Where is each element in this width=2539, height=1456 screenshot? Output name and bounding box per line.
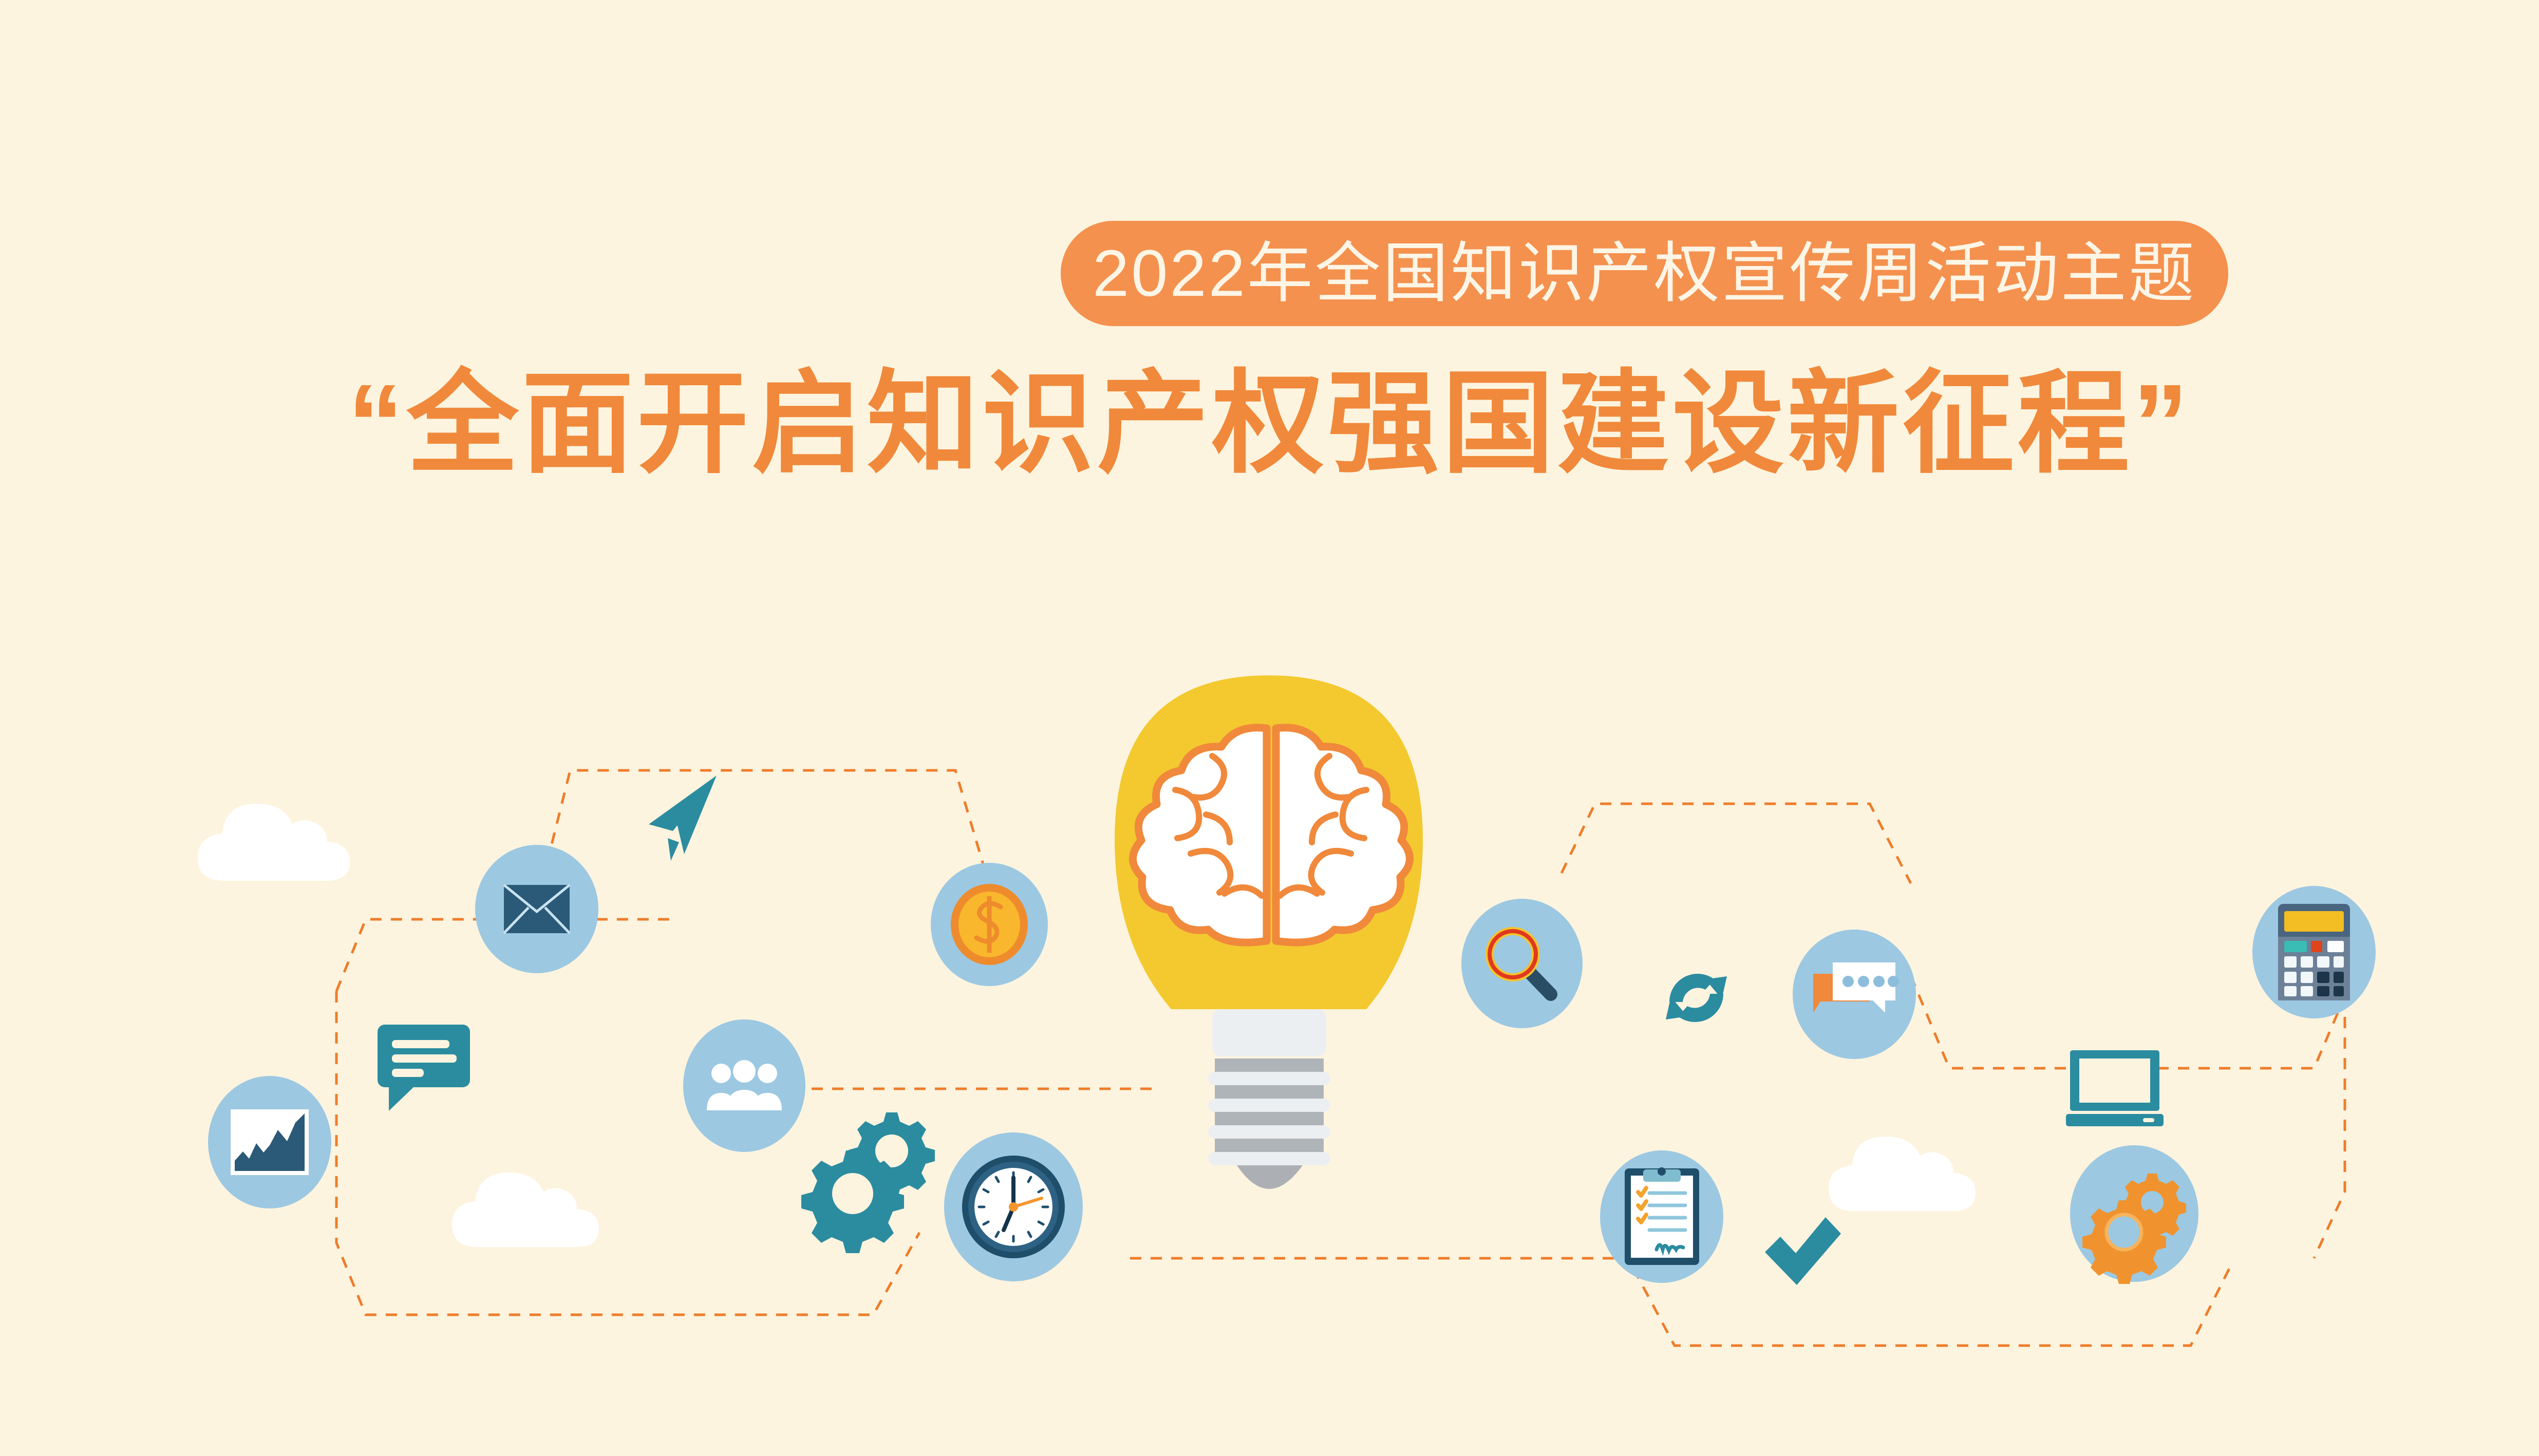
lightbulb-brain-icon [1109,670,1428,1276]
gears-icon [2070,1145,2198,1282]
chat-messages-icon [1793,930,1916,1059]
area-chart-icon [208,1076,331,1208]
calculator-icon [2252,886,2376,1018]
page-title: “全面开启知识产权强国建设新征程” [0,354,2539,495]
clock-icon [944,1132,1083,1281]
paper-plane-icon [648,774,738,859]
envelope-icon [475,845,598,973]
magnifier-icon [1461,899,1583,1028]
check-icon [1763,1212,1842,1287]
chat-bubble-icon [378,1025,470,1113]
campaign-banner: 2022年全国知识产权宣传周活动主题 [1061,221,2228,326]
cloud-icon [452,1156,616,1248]
banner-label: 2022年全国知识产权宣传周活动主题 [1093,241,2196,307]
refresh-icon [1654,953,1739,1043]
cloud-icon [198,786,367,883]
poster-canvas: 2022年全国知识产权宣传周活动主题 “全面开启知识产权强国建设新征程” [0,0,2539,1456]
gears-icon [806,1103,930,1221]
users-group-icon [683,1019,805,1152]
dollar-coin-icon [931,863,1048,986]
cloud-icon [1829,1120,1993,1212]
laptop-icon [2066,1050,2164,1130]
clipboard-icon [1600,1150,1723,1283]
